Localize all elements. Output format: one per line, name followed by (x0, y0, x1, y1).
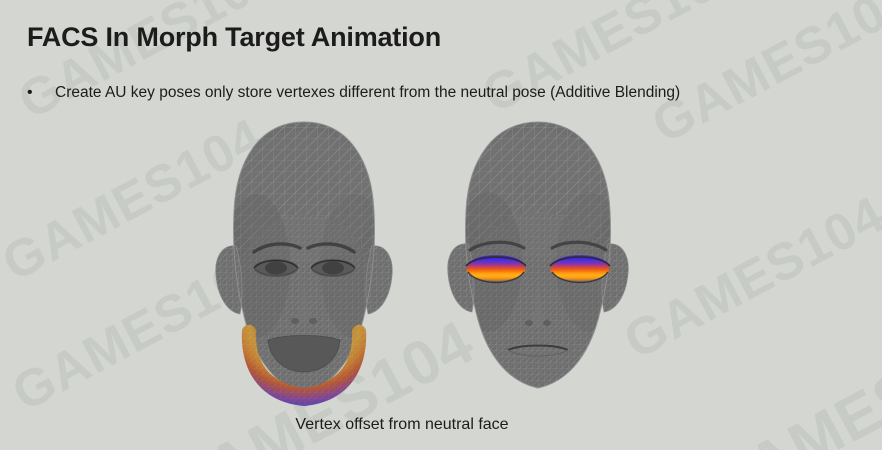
ear-left (448, 244, 474, 312)
ear-right (602, 244, 628, 312)
eye-right-closed (550, 255, 610, 283)
bullet-marker: • (27, 85, 43, 101)
head-mesh-left (196, 116, 412, 406)
bullet-text: Create AU key poses only store vertexes … (55, 84, 680, 102)
watermark-5: GAMES104 (615, 185, 882, 372)
bullet-item: • Create AU key poses only store vertexe… (27, 84, 680, 102)
ear-left (216, 246, 242, 314)
head-mesh-right (424, 116, 652, 398)
eye-right (311, 259, 355, 277)
figure-caption: Vertex offset from neutral face (0, 416, 882, 434)
eyelid-close-au-head (424, 116, 652, 398)
figure-caption-text: Vertex offset from neutral face (295, 416, 508, 434)
slide-canvas: GAMES104GAMES104GAMES104GAMES104GAMES104… (0, 0, 882, 450)
eye-left (254, 259, 298, 277)
page-title: FACS In Morph Target Animation (27, 22, 441, 53)
ear-right (366, 246, 392, 314)
jaw-open-au-head (196, 116, 412, 406)
eye-left-closed (466, 255, 526, 283)
